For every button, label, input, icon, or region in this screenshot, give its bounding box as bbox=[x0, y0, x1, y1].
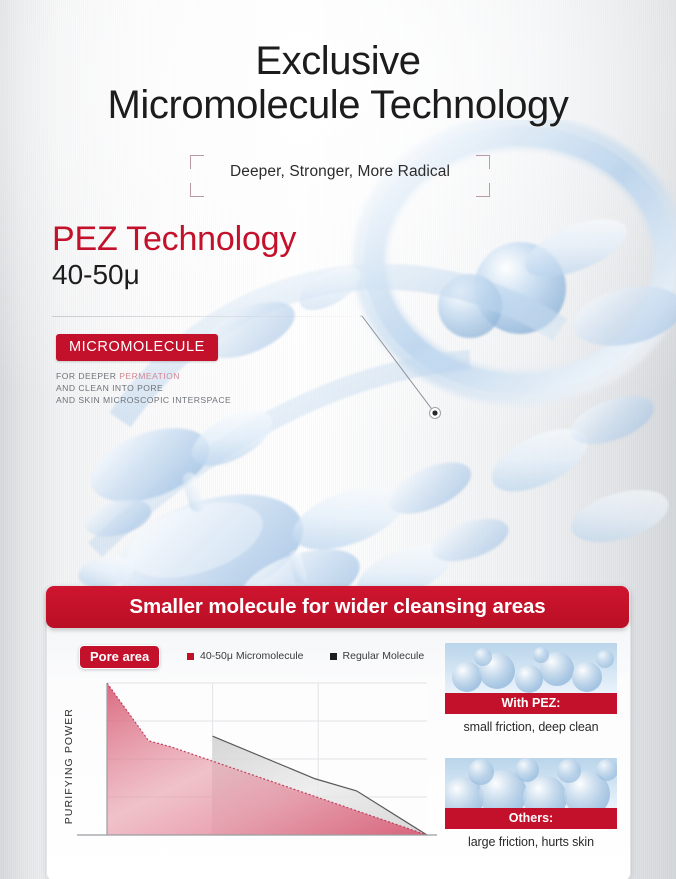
legend-item-micromolecule: 40-50μ Micromolecule bbox=[187, 650, 304, 662]
callout-leader-line bbox=[360, 300, 470, 430]
desc-line-1-highlight: PERMEATION bbox=[119, 371, 180, 381]
legend-label: 40-50μ Micromolecule bbox=[200, 650, 304, 662]
desc-line-2: AND CLEAN INTO PORE bbox=[56, 383, 163, 393]
bracket-bottom-right-icon bbox=[476, 183, 490, 197]
purifying-power-chart bbox=[77, 677, 437, 857]
chart-legend: 40-50μ Micromolecule Regular Molecule bbox=[187, 650, 424, 662]
tagline-block: Deeper, Stronger, More Radical bbox=[190, 155, 490, 197]
micromolecule-description: FOR DEEPER PERMEATION AND CLEAN INTO POR… bbox=[56, 370, 356, 407]
pore-area-badge: Pore area bbox=[79, 645, 160, 669]
legend-swatch-icon bbox=[187, 653, 194, 660]
legend-label: Regular Molecule bbox=[343, 650, 425, 662]
page-title: Exclusive Micromolecule Technology bbox=[0, 40, 676, 127]
panel-caption: small friction, deep clean bbox=[445, 720, 617, 734]
pez-technology-title: PEZ Technology bbox=[52, 222, 296, 258]
panel-caption: large friction, hurts skin bbox=[445, 835, 617, 849]
micromolecule-badge: MICROMOLECULE bbox=[56, 334, 218, 361]
panel-with-pez: With PEZ: small friction, deep clean bbox=[445, 643, 617, 734]
bubbles-photo-large bbox=[445, 758, 617, 808]
desc-line-1-prefix: FOR DEEPER bbox=[56, 371, 119, 381]
panel-label: Others: bbox=[445, 808, 617, 829]
pez-technology-block: PEZ Technology 40-50μ bbox=[52, 222, 296, 289]
bubbles-photo-small bbox=[445, 643, 617, 693]
comparison-card: Pore area 40-50μ Micromolecule Regular M… bbox=[46, 586, 631, 879]
legend-swatch-icon bbox=[330, 653, 337, 660]
panel-others: Others: large friction, hurts skin bbox=[445, 758, 617, 849]
title-line-2: Micromolecule Technology bbox=[0, 84, 676, 126]
title-line-1: Exclusive bbox=[0, 40, 676, 82]
card-banner: Smaller molecule for wider cleansing are… bbox=[46, 586, 629, 628]
desc-line-3: AND SKIN MICROSCOPIC INTERSPACE bbox=[56, 395, 231, 405]
tagline-text: Deeper, Stronger, More Radical bbox=[190, 163, 490, 181]
card-body: Pore area 40-50μ Micromolecule Regular M… bbox=[47, 629, 630, 879]
chart-y-axis-label: PURIFYING POWER bbox=[61, 681, 77, 851]
panel-label: With PEZ: bbox=[445, 693, 617, 714]
comparison-panels: With PEZ: small friction, deep clean bbox=[445, 643, 617, 849]
divider bbox=[52, 316, 374, 317]
card-banner-text: Smaller molecule for wider cleansing are… bbox=[129, 595, 545, 619]
legend-item-regular: Regular Molecule bbox=[330, 650, 425, 662]
infographic-page: Exclusive Micromolecule Technology Deepe… bbox=[0, 0, 676, 879]
pez-molecule-size: 40-50μ bbox=[52, 260, 296, 289]
bracket-bottom-left-icon bbox=[190, 183, 204, 197]
